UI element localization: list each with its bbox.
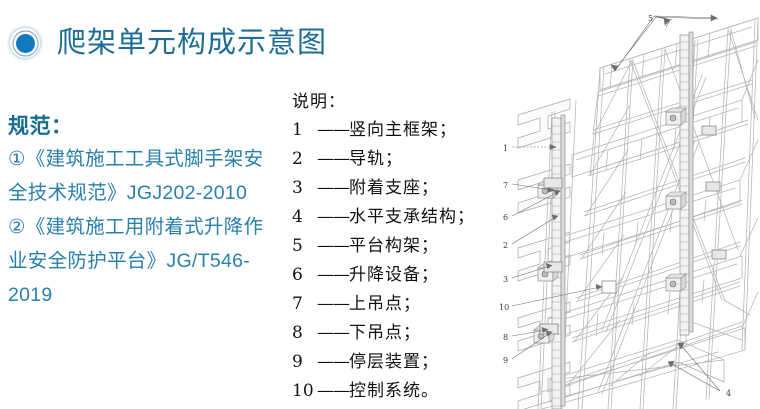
- scaffold-vertical-posts: [578, 19, 758, 409]
- callout-number: 8: [503, 333, 508, 342]
- legend-item-dash: ——: [317, 174, 349, 203]
- legend-item-dash: ——: [317, 261, 349, 290]
- legend-item-label: 控制系统。: [349, 377, 439, 406]
- legend-item-dash: ——: [317, 319, 349, 348]
- platform-frame-5: [542, 18, 758, 409]
- callout-number: 2: [503, 241, 508, 250]
- legend-item-number: 3: [292, 174, 317, 203]
- callout-number: 4: [726, 389, 731, 398]
- legend-item: 2 —— 导轨；: [292, 145, 487, 174]
- legend-item-number: 10: [292, 377, 317, 406]
- legend-item-number: 6: [292, 261, 317, 290]
- legend-item: 6 —— 升降设备；: [292, 261, 487, 290]
- legend-item: 3 —— 附着支座；: [292, 174, 487, 203]
- legend-item-dash: ——: [317, 290, 349, 319]
- callout-number: 7: [503, 181, 508, 190]
- legend-item: 9 —— 停层装置；: [292, 348, 487, 377]
- legend-item-number: 2: [292, 145, 317, 174]
- legend-item: 10 —— 控制系统。: [292, 377, 487, 406]
- legend-item-dash: ——: [317, 348, 349, 377]
- legend-item: 8 —— 下吊点；: [292, 319, 487, 348]
- legend-item-number: 1: [292, 116, 317, 145]
- control-system-box: [602, 281, 616, 293]
- standards-block: 规范： ①《建筑施工工具式脚手架安 全技术规范》JGJ202-2010 ②《建筑…: [8, 112, 293, 312]
- legend-item-dash: ——: [317, 116, 349, 145]
- standards-line: ②《建筑施工用附着式升降作: [8, 210, 293, 244]
- callout-number: 10: [499, 303, 509, 312]
- callout-number: 5: [648, 14, 653, 23]
- callout-number: 3: [503, 275, 508, 284]
- legend-item-label: 平台构架；: [349, 232, 439, 261]
- legend-item-number: 4: [292, 203, 317, 232]
- legend-item-number: 9: [292, 348, 317, 377]
- legend-item-dash: ——: [317, 145, 349, 174]
- legend-item-label: 下吊点；: [349, 319, 421, 348]
- standards-line: ①《建筑施工工具式脚手架安: [8, 142, 293, 176]
- legend-item-dash: ——: [317, 232, 349, 261]
- callout-number: 1: [503, 144, 508, 153]
- scaffold-diagonal-bracing: [550, 29, 758, 402]
- legend-item-label: 导轨；: [349, 145, 403, 174]
- legend-item-label: 附着支座；: [349, 174, 439, 203]
- target-bullet-icon: [10, 28, 40, 58]
- legend-item: 1 —— 竖向主框架；: [292, 116, 487, 145]
- callout-number: 9: [503, 356, 508, 365]
- legend-item-label: 上吊点；: [349, 290, 421, 319]
- callout-number: 6: [503, 213, 508, 222]
- standards-line: 全技术规范》JGJ202-2010: [8, 176, 293, 210]
- legend-item-dash: ——: [317, 377, 349, 406]
- legend-item-label: 停层装置；: [349, 348, 439, 377]
- legend-item: 4 —— 水平支承结构；: [292, 203, 487, 232]
- legend-item-dash: ——: [317, 203, 349, 232]
- legend-block: 说明： 1 —— 竖向主框架； 2 —— 导轨； 3 —— 附着支座； 4 ——…: [292, 88, 487, 406]
- page-title-row: 爬架单元构成示意图: [0, 18, 470, 68]
- legend-heading: 说明：: [292, 88, 487, 116]
- legend-item-label: 升降设备；: [349, 261, 439, 290]
- standards-heading: 规范：: [8, 112, 293, 142]
- legend-item-number: 5: [292, 232, 317, 261]
- legend-item: 7 —— 上吊点；: [292, 290, 487, 319]
- legend-item: 5 —— 平台构架；: [292, 232, 487, 261]
- legend-item-label: 竖向主框架；: [349, 116, 457, 145]
- legend-item-label: 水平支承结构；: [349, 203, 475, 232]
- standards-line: 业安全防护平台》JG/T546-: [8, 244, 293, 278]
- standards-line: 2019: [8, 278, 293, 312]
- legend-item-number: 8: [292, 319, 317, 348]
- legend-item-number: 7: [292, 290, 317, 319]
- climbing-scaffold-isometric-drawing: 5 1 7 6 2 3 10 8 9 4: [490, 0, 760, 409]
- page-title: 爬架单元构成示意图: [57, 29, 327, 58]
